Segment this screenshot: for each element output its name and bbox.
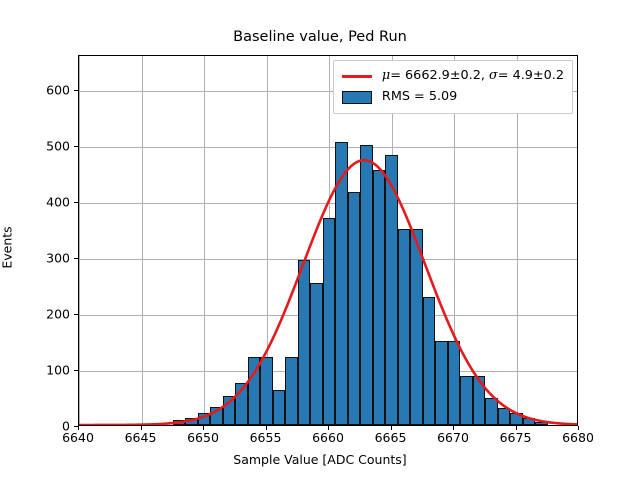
x-tick-label: 6655: [250, 430, 282, 445]
histogram-figure: Baseline value, Ped Run Events Sample Va…: [0, 0, 640, 480]
x-tick-label: 6645: [125, 430, 157, 445]
legend-label-rms: RMS = 5.09: [382, 91, 457, 104]
x-tick-mark: [391, 426, 392, 430]
y-tick-label: 0: [62, 419, 70, 434]
y-tick-label: 100: [46, 362, 70, 377]
chart-legend: μ= 6662.9±0.2, σ= 4.9±0.2 RMS = 5.09: [333, 60, 573, 114]
sigma-value: = 4.9±0.2: [498, 68, 564, 83]
y-tick-label: 600: [46, 82, 70, 97]
x-tick-mark: [203, 426, 204, 430]
legend-line-swatch: [340, 75, 374, 78]
legend-item-hist: RMS = 5.09: [340, 87, 564, 108]
x-tick-label: 6670: [437, 430, 469, 445]
x-tick-mark: [141, 426, 142, 430]
y-tick-label: 500: [46, 138, 70, 153]
legend-item-fit: μ= 6662.9±0.2, σ= 4.9±0.2: [340, 66, 564, 87]
y-tick-mark: [74, 426, 78, 427]
x-tick-mark: [578, 426, 579, 430]
x-tick-mark: [78, 426, 79, 430]
x-tick-label: 6675: [500, 430, 532, 445]
x-tick-mark: [328, 426, 329, 430]
x-tick-label: 6660: [312, 430, 344, 445]
mu-value: = 6662.9±0.2,: [390, 68, 489, 83]
x-tick-mark: [266, 426, 267, 430]
sigma-symbol: σ: [489, 68, 498, 83]
plot-area: μ= 6662.9±0.2, σ= 4.9±0.2 RMS = 5.09: [78, 55, 578, 426]
legend-label-fit: μ= 6662.9±0.2, σ= 4.9±0.2: [382, 70, 564, 83]
page-title: Baseline value, Ped Run: [0, 29, 640, 45]
y-tick-label: 400: [46, 194, 70, 209]
y-tick-label: 200: [46, 306, 70, 321]
x-tick-label: 6665: [375, 430, 407, 445]
y-tick-label: 300: [46, 250, 70, 265]
x-tick-mark: [516, 426, 517, 430]
x-tick-label: 6680: [562, 430, 594, 445]
legend-patch-swatch: [340, 91, 374, 104]
mu-symbol: μ: [382, 68, 390, 83]
x-tick-label: 6650: [187, 430, 219, 445]
x-axis-label: Sample Value [ADC Counts]: [0, 452, 640, 467]
y-axis-label: Events: [0, 226, 15, 268]
x-tick-mark: [453, 426, 454, 430]
